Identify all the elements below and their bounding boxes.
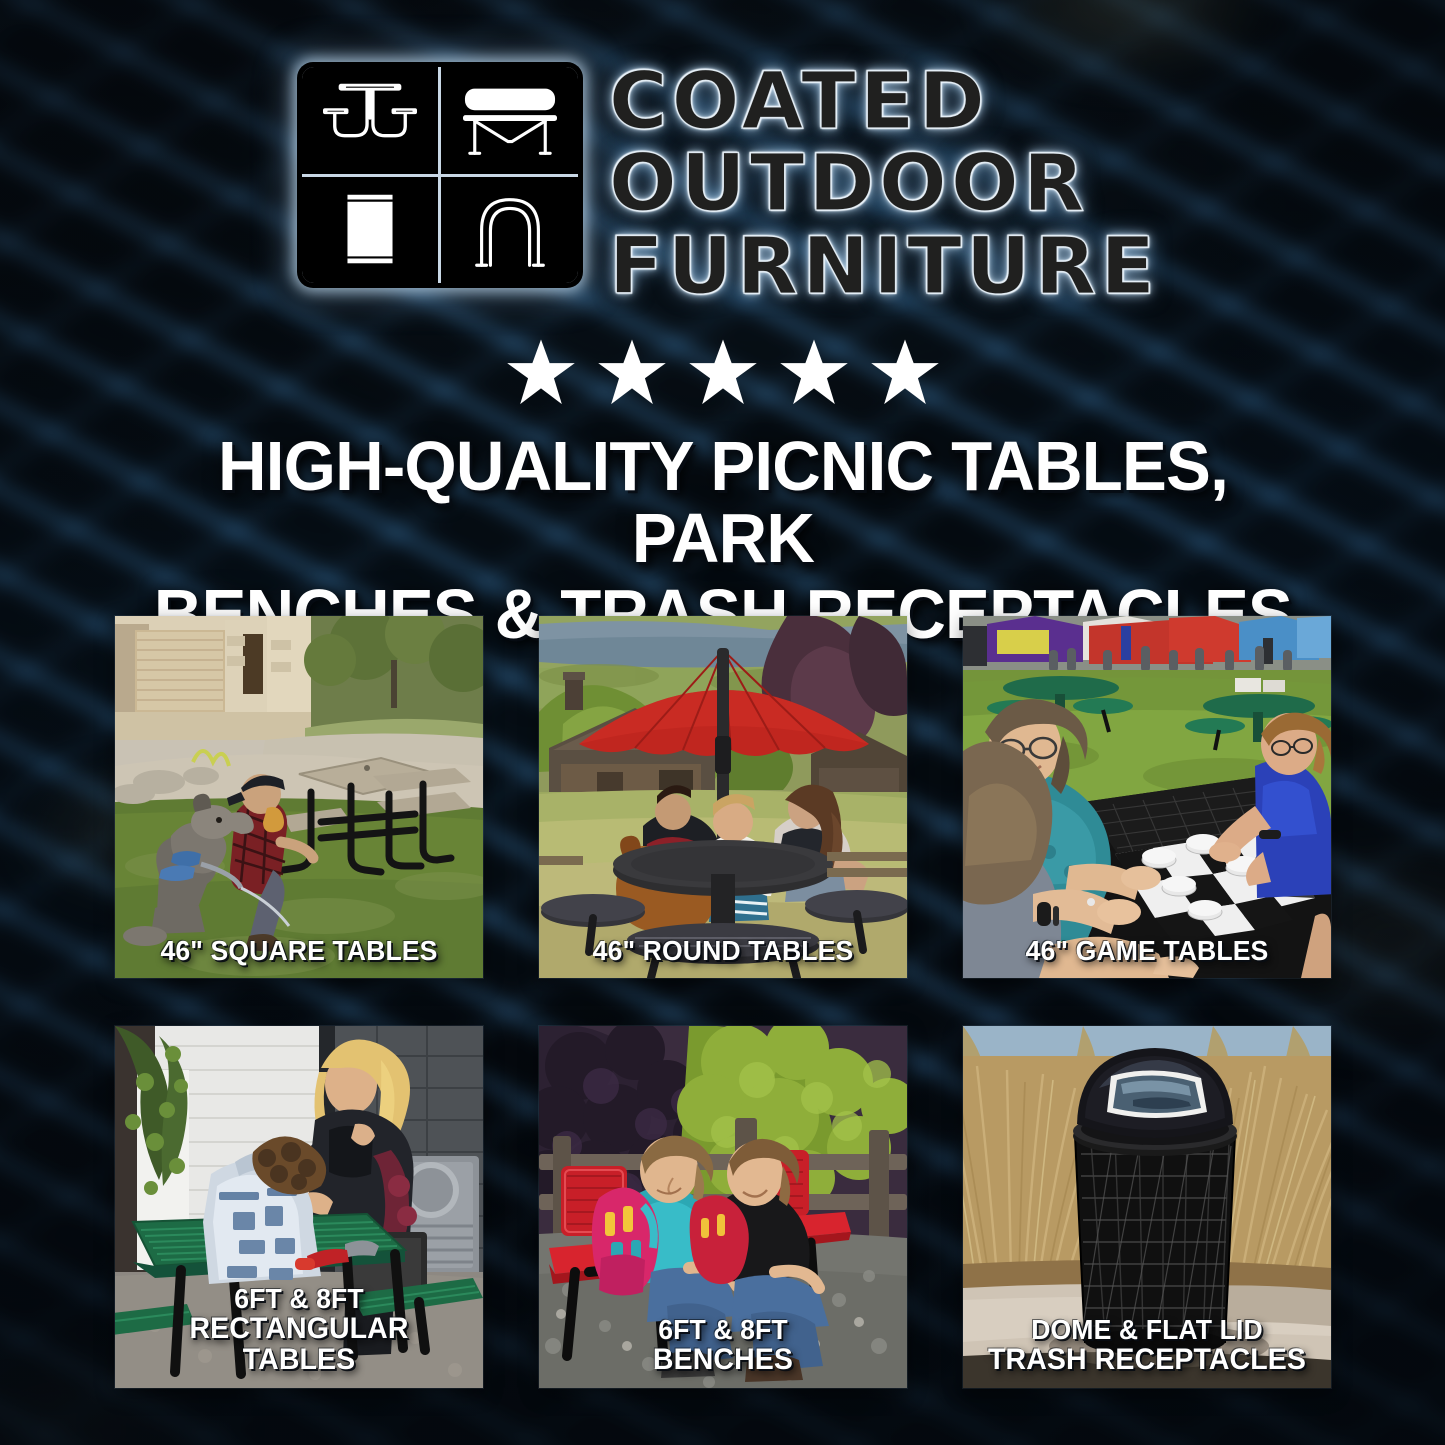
star-icon xyxy=(869,338,941,407)
product-photo-game-tables xyxy=(963,616,1331,978)
product-tile-benches[interactable]: 6FT & 8FT BENCHES xyxy=(539,1026,907,1388)
picnic-table-front-icon xyxy=(302,67,439,174)
brand-name-line-3: FURNITURE xyxy=(609,229,1159,305)
trash-receptacle-icon xyxy=(302,177,439,284)
poster-canvas: COATED OUTDOOR FURNITURE HIGH-QUALITY PI… xyxy=(0,0,1445,1445)
product-caption-benches: 6FT & 8FT BENCHES xyxy=(539,1315,907,1375)
product-photo-square-tables xyxy=(115,616,483,978)
product-caption-round-tables: 46" ROUND TABLES xyxy=(539,936,907,965)
table-side-view-icon xyxy=(441,67,578,174)
product-photo-round-tables xyxy=(539,616,907,978)
brand-name-line-1: COATED xyxy=(609,64,989,140)
product-tile-game-tables[interactable]: 46" GAME TABLES xyxy=(963,616,1331,978)
product-caption-trash-receptacles: DOME & FLAT LID TRASH RECEPTACLES xyxy=(963,1315,1331,1375)
product-caption-game-tables: 46" GAME TABLES xyxy=(963,936,1331,965)
product-tile-round-tables[interactable]: 46" ROUND TABLES xyxy=(539,616,907,978)
brand-logo: COATED OUTDOOR FURNITURE xyxy=(0,62,1445,305)
caption-line-2: BENCHES xyxy=(556,1344,890,1375)
star-icon xyxy=(505,338,577,407)
brand-name-line-2: OUTDOOR xyxy=(609,146,1089,222)
caption-line-2: TRASH RECEPTACLES xyxy=(980,1344,1314,1375)
star-icon xyxy=(596,338,668,407)
caption-line-1: 46" ROUND TABLES xyxy=(556,936,890,965)
star-icon xyxy=(778,338,850,407)
product-tile-rectangular-tables[interactable]: 6FT & 8FT RECTANGULAR TABLES xyxy=(115,1026,483,1388)
bike-rack-arch-icon xyxy=(441,177,578,284)
star-icon xyxy=(687,338,759,407)
product-caption-rectangular-tables: 6FT & 8FT RECTANGULAR TABLES xyxy=(115,1284,483,1375)
product-caption-square-tables: 46" SQUARE TABLES xyxy=(115,936,483,965)
caption-line-1: DOME & FLAT LID xyxy=(980,1315,1314,1344)
brand-wordmark: COATED OUTDOOR FURNITURE xyxy=(609,62,1148,305)
caption-line-2: RECTANGULAR TABLES xyxy=(132,1313,466,1375)
product-grid: 46" SQUARE TABLES xyxy=(115,616,1331,1388)
product-tile-trash-receptacles[interactable]: DOME & FLAT LID TRASH RECEPTACLES xyxy=(963,1026,1331,1388)
caption-line-1: 6FT & 8FT xyxy=(132,1284,466,1313)
caption-line-1: 46" GAME TABLES xyxy=(980,936,1314,965)
headline-line-1: HIGH-QUALITY PICNIC TABLES, PARK xyxy=(132,430,1313,574)
caption-line-1: 46" SQUARE TABLES xyxy=(132,936,466,965)
rating-stars xyxy=(0,338,1445,407)
caption-line-1: 6FT & 8FT xyxy=(556,1315,890,1344)
logo-icon-grid xyxy=(297,62,583,288)
product-tile-square-tables[interactable]: 46" SQUARE TABLES xyxy=(115,616,483,978)
